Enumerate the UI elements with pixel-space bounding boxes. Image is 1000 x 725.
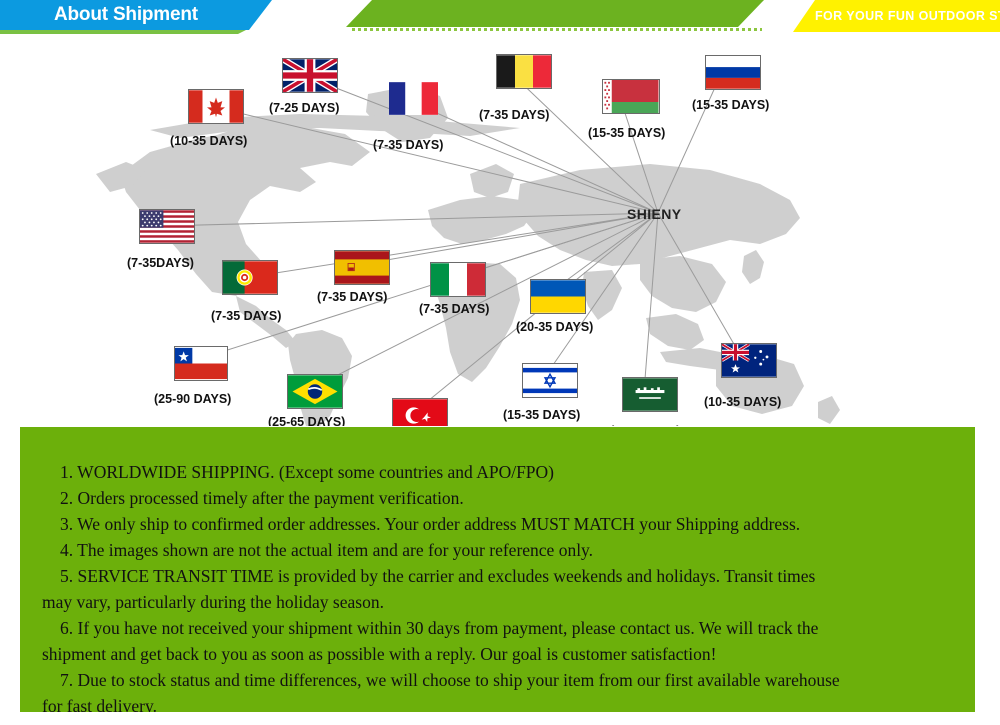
world-shipping-map: SHIENY (7-25 DAYS) (10-35 DAYS) — [0, 34, 1000, 426]
page-title: About Shipment — [54, 4, 198, 26]
days-label-france: (7-35 DAYS) — [373, 138, 443, 152]
days-label-russia: (15-35 DAYS) — [692, 98, 769, 112]
flag-belarus — [602, 79, 660, 114]
flag-turkey — [392, 398, 448, 426]
shipping-terms-box: 1. WORLDWIDE SHIPPING. (Except some coun… — [20, 427, 975, 712]
days-label-israel: (15-35 DAYS) — [503, 408, 580, 422]
flag-uk — [282, 58, 338, 93]
days-label-belgium: (7-35 DAYS) — [479, 108, 549, 122]
days-label-uk: (7-25 DAYS) — [269, 101, 339, 115]
flag-portugal — [222, 260, 278, 295]
flag-usa — [139, 209, 195, 244]
header-green-band-inner — [362, 3, 754, 24]
terms-line: for fast delivery. — [42, 693, 972, 712]
store-tagline: FOR YOUR FUN OUTDOOR STORE — [815, 9, 1000, 23]
terms-line: 3. We only ship to confirmed order addre… — [42, 511, 972, 537]
flag-chile — [174, 346, 228, 381]
days-label-belarus: (15-35 DAYS) — [588, 126, 665, 140]
hub-label: SHIENY — [627, 206, 682, 222]
flag-australia — [721, 343, 777, 378]
terms-line: 6. If you have not received your shipmen… — [42, 615, 972, 641]
flag-saudi-arabia — [622, 377, 678, 412]
days-label-saudi-arabia: (7-35 DAYS) — [610, 424, 680, 426]
terms-line: may vary, particularly during the holida… — [42, 589, 972, 615]
terms-line: 2. Orders processed timely after the pay… — [42, 485, 972, 511]
days-label-usa: (7-35DAYS) — [127, 256, 194, 270]
flag-ukraine — [530, 279, 586, 314]
days-label-ukraine: (20-35 DAYS) — [516, 320, 593, 334]
days-label-brazil: (25-65 DAYS) — [268, 415, 345, 426]
page-header: About Shipment FOR YOUR FUN OUTDOOR STOR… — [0, 0, 1000, 34]
terms-line: 4. The images shown are not the actual i… — [42, 537, 972, 563]
terms-line: 7. Due to stock status and time differen… — [42, 667, 972, 693]
flag-canada — [188, 89, 244, 124]
flag-russia — [705, 55, 761, 90]
flag-france — [389, 82, 438, 115]
header-dotted-line — [352, 28, 762, 31]
days-label-portugal: (7-35 DAYS) — [211, 309, 281, 323]
days-label-australia: (10-35 DAYS) — [704, 395, 781, 409]
terms-line: 5. SERVICE TRANSIT TIME is provided by t… — [42, 563, 972, 589]
terms-line: shipment and get back to you as soon as … — [42, 641, 972, 667]
shipping-terms-list: 1. WORLDWIDE SHIPPING. (Except some coun… — [42, 459, 972, 712]
days-label-chile: (25-90 DAYS) — [154, 392, 231, 406]
flag-israel — [522, 363, 578, 398]
flag-italy — [430, 262, 486, 297]
flag-belgium — [496, 54, 552, 89]
flag-spain — [334, 250, 390, 285]
terms-line: 1. WORLDWIDE SHIPPING. (Except some coun… — [42, 459, 972, 485]
days-label-canada: (10-35 DAYS) — [170, 134, 247, 148]
flag-brazil — [287, 374, 343, 409]
days-label-italy: (7-35 DAYS) — [419, 302, 489, 316]
days-label-spain: (7-35 DAYS) — [317, 290, 387, 304]
